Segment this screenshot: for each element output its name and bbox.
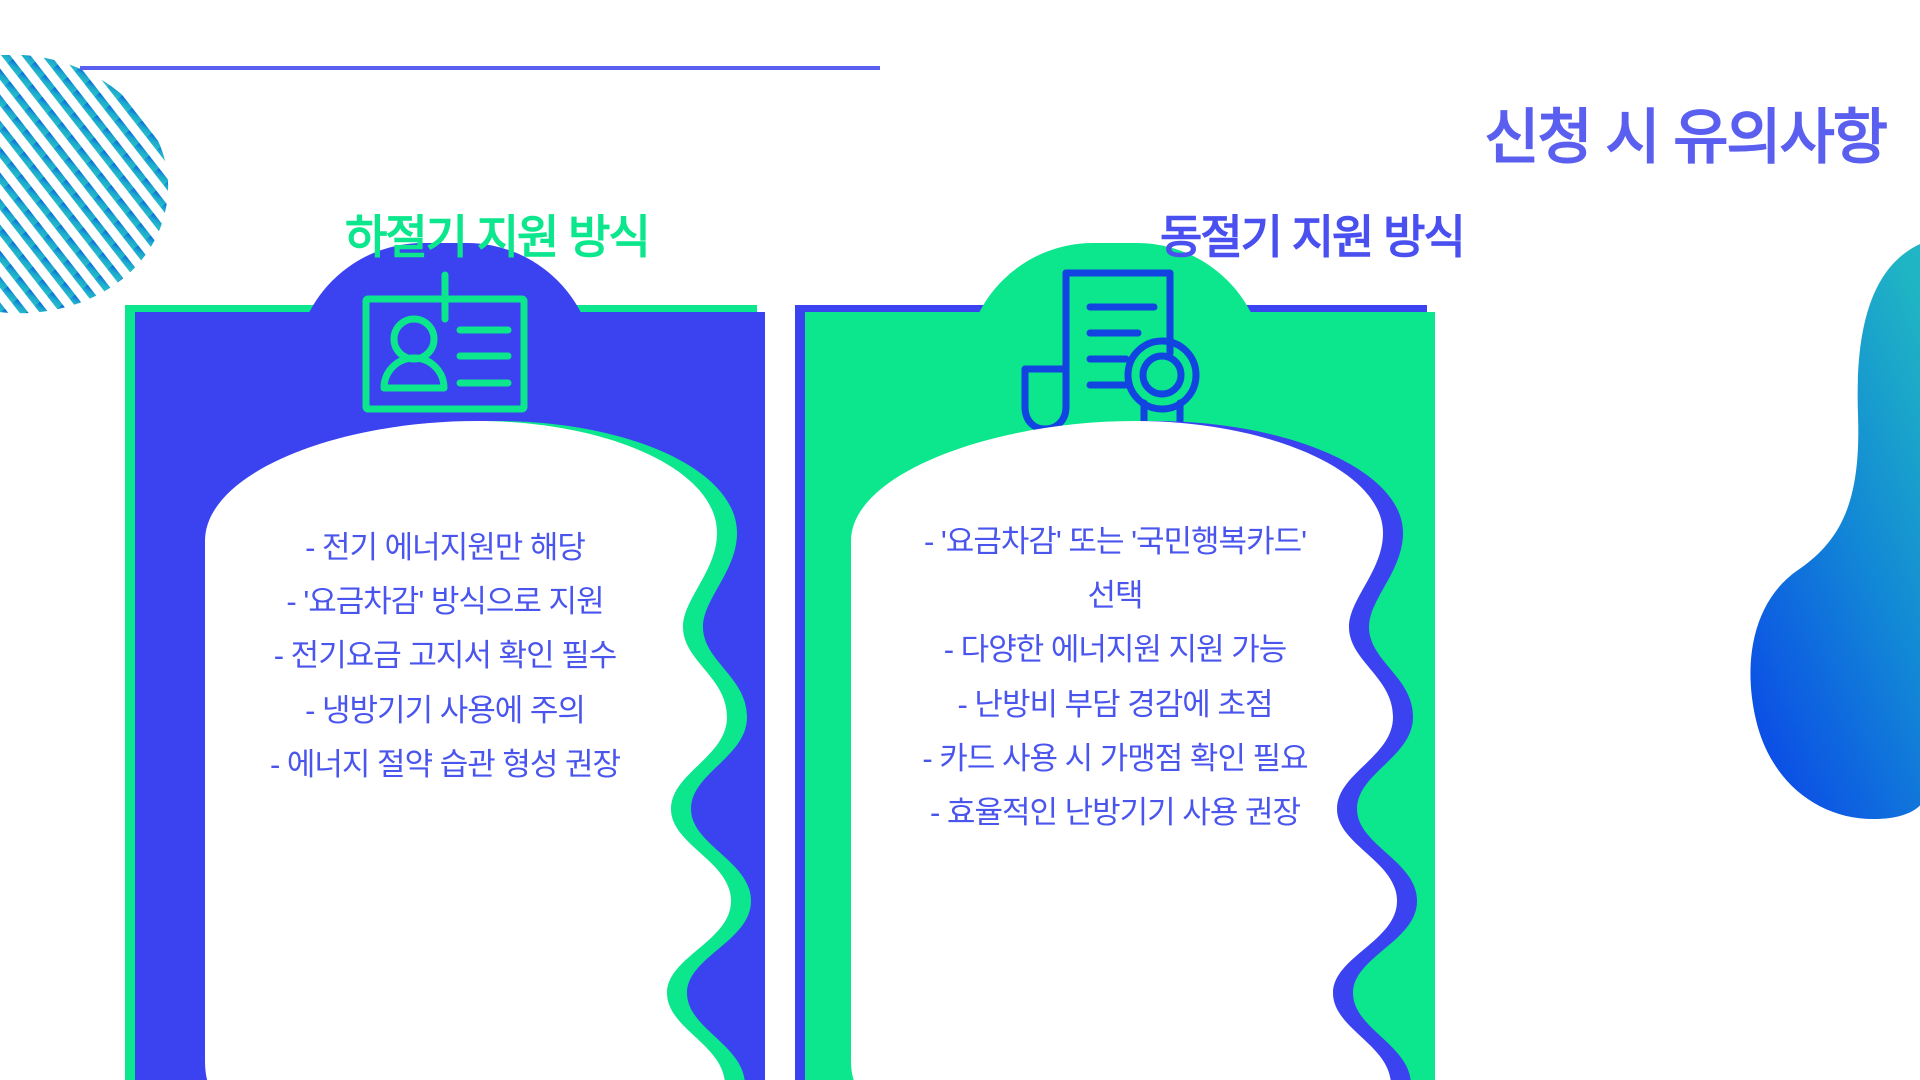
list-item: - 카드 사용 시 가맹점 확인 필요 — [922, 734, 1307, 784]
list-item: - 에너지 절약 습관 형성 권장 — [270, 740, 620, 790]
list-item: - 전기 에너지원만 해당 — [305, 523, 585, 573]
list-item: - 다양한 에너지원 지원 가능 — [944, 625, 1287, 675]
slide-canvas: 신청 시 유의사항 하절기 지원 방식 동절기 지원 방식 — [0, 0, 1920, 1080]
list-item: - '요금차감' 방식으로 지원 — [286, 577, 603, 627]
card-winter: - '요금차감' 또는 '국민행복카드' 선택 - 다양한 에너지원 지원 가능… — [795, 305, 1435, 1080]
page-title: 신청 시 유의사항 — [1484, 108, 1886, 168]
card-summer-bullets: - 전기 에너지원만 해당 - '요금차감' 방식으로 지원 - 전기요금 고지… — [125, 305, 765, 1080]
list-item: - 난방비 부담 경감에 초점 — [958, 680, 1273, 730]
list-item: 선택 — [1087, 571, 1142, 621]
striped-blob-icon — [0, 55, 220, 315]
card-summer: - 전기 에너지원만 해당 - '요금차감' 방식으로 지원 - 전기요금 고지… — [125, 305, 765, 1080]
card-winter-bullets: - '요금차감' 또는 '국민행복카드' 선택 - 다양한 에너지원 지원 가능… — [795, 305, 1435, 1080]
top-divider-rule — [80, 66, 880, 70]
list-item: - '요금차감' 또는 '국민행복카드' — [924, 517, 1306, 567]
list-item: - 전기요금 고지서 확인 필수 — [274, 631, 617, 681]
gradient-blob-icon — [1750, 240, 1920, 820]
card-title-summer: 하절기 지원 방식 — [345, 214, 649, 260]
list-item: - 냉방기기 사용에 주의 — [305, 686, 585, 736]
list-item: - 효율적인 난방기기 사용 권장 — [930, 788, 1300, 838]
card-title-winter: 동절기 지원 방식 — [1160, 214, 1464, 260]
